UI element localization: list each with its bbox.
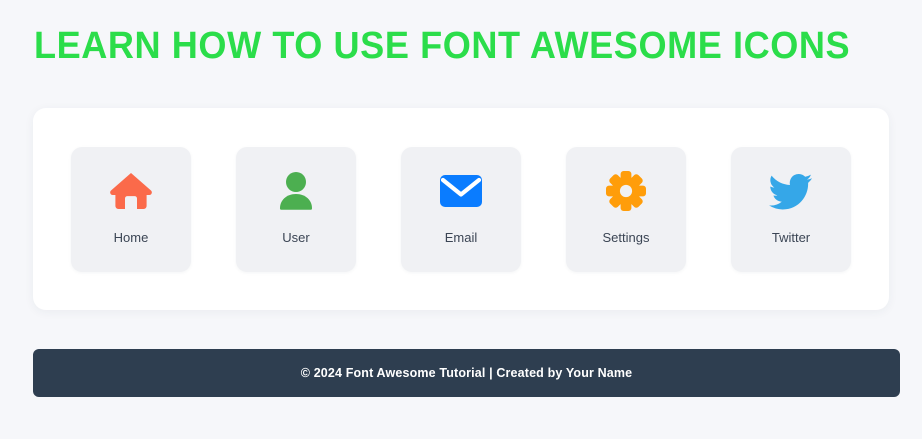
icon-label-twitter: Twitter — [772, 230, 810, 246]
icon-showcase-card: Home User — [33, 108, 889, 310]
icon-label-settings: Settings — [603, 230, 650, 246]
icon-label-home: Home — [114, 230, 149, 246]
footer-text: © 2024 Font Awesome Tutorial | Created b… — [301, 365, 633, 381]
icon-label-email: Email — [445, 230, 478, 246]
icon-tile-user[interactable]: User — [236, 147, 356, 272]
icon-label-user: User — [282, 230, 309, 246]
icon-tile-settings[interactable]: Settings — [566, 147, 686, 272]
user-icon — [273, 168, 319, 214]
icon-row: Home User — [33, 108, 889, 310]
icon-tile-email[interactable]: Email — [401, 147, 521, 272]
footer-bar: © 2024 Font Awesome Tutorial | Created b… — [33, 349, 900, 397]
icon-tile-home[interactable]: Home — [71, 147, 191, 272]
page-root: Learn How To Use Font Awesome Icons Home — [0, 0, 922, 439]
envelope-icon — [438, 168, 484, 214]
twitter-bird-icon — [768, 168, 814, 214]
icon-tile-twitter[interactable]: Twitter — [731, 147, 851, 272]
gear-icon — [603, 168, 649, 214]
page-title: Learn How To Use Font Awesome Icons — [34, 22, 850, 70]
home-icon — [108, 168, 154, 214]
